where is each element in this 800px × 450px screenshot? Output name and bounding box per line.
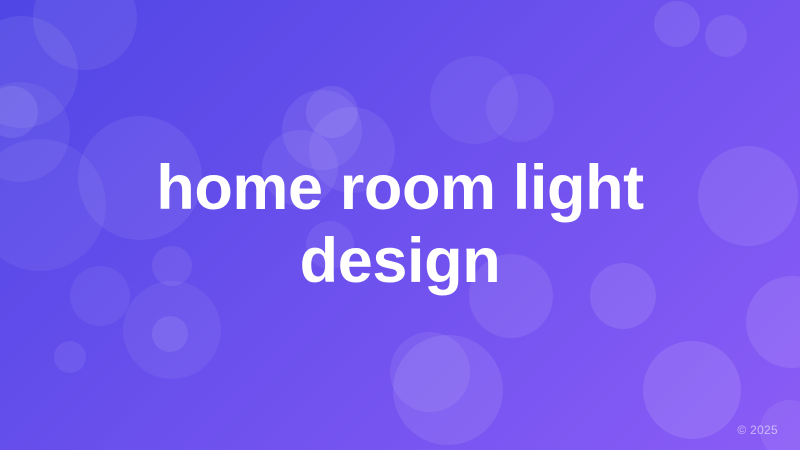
title-block: home room light design [0,0,800,450]
page-title: home room light design [140,152,660,298]
title-slide: home room light design © 2025 [0,0,800,450]
copyright-notice: © 2025 [737,423,778,437]
